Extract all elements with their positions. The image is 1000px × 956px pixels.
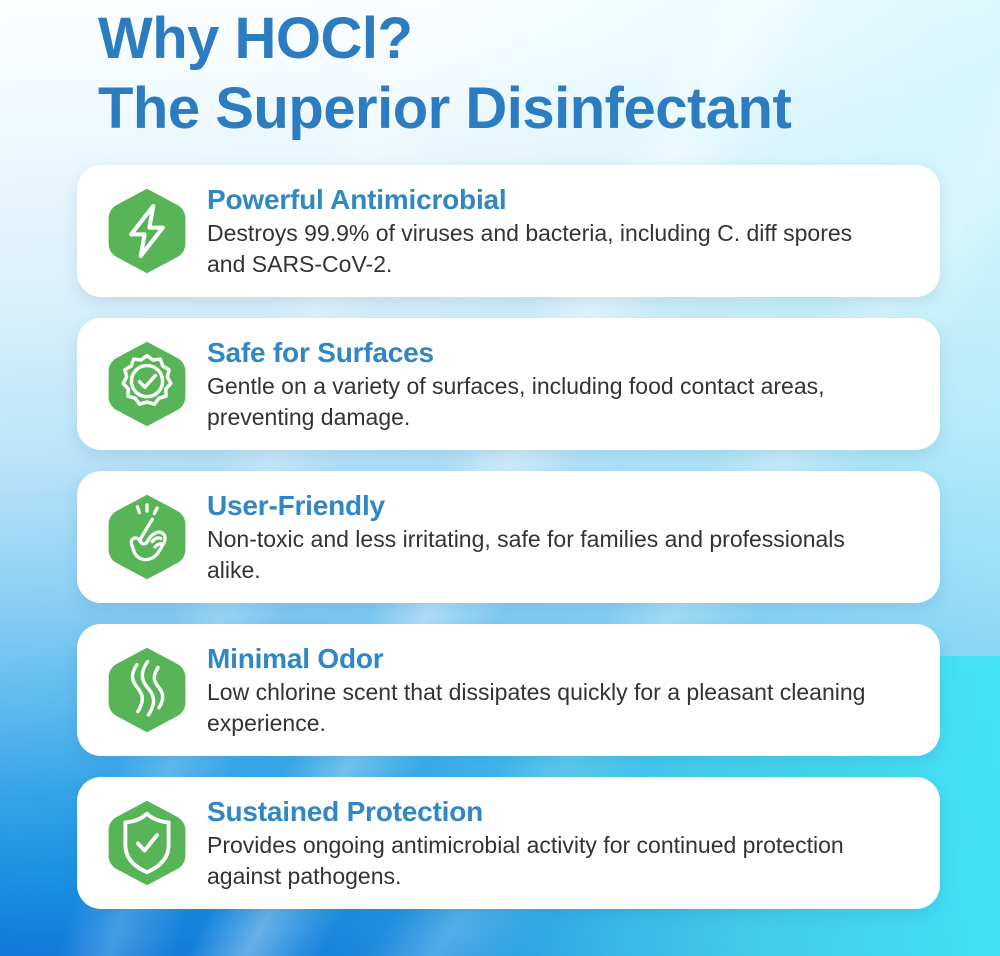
benefit-card-title: Powerful Antimicrobial [207, 183, 887, 217]
benefit-card-title: Safe for Surfaces [207, 336, 887, 370]
benefit-card-description: Low chlorine scent that dissipates quick… [207, 677, 887, 739]
benefit-card-description: Non-toxic and less irritating, safe for … [207, 524, 887, 586]
benefit-card-safe-for-surfaces: Safe for Surfaces Gentle on a variety of… [77, 318, 940, 450]
benefit-card-description: Gentle on a variety of surfaces, includi… [207, 371, 887, 433]
page-title-line-2: The Superior Disinfectant [98, 74, 1000, 144]
benefit-card-text: Safe for Surfaces Gentle on a variety of… [195, 336, 905, 433]
benefit-card-text: Sustained Protection Provides ongoing an… [195, 795, 905, 892]
benefit-card-sustained-protection: Sustained Protection Provides ongoing an… [77, 777, 940, 909]
benefit-card-minimal-odor: Minimal Odor Low chlorine scent that dis… [77, 624, 940, 756]
tapping-hand-icon [99, 489, 195, 585]
scent-waves-icon [99, 642, 195, 738]
benefit-card-user-friendly: User-Friendly Non-toxic and less irritat… [77, 471, 940, 603]
benefit-card-title: Minimal Odor [207, 642, 887, 676]
benefit-card-text: Powerful Antimicrobial Destroys 99.9% of… [195, 183, 905, 280]
benefit-card-title: User-Friendly [207, 489, 887, 523]
infographic-canvas: Why HOCl? The Superior Disinfectant Powe… [0, 0, 1000, 956]
lightning-bolt-icon [99, 183, 195, 279]
benefit-card-description: Destroys 99.9% of viruses and bacteria, … [207, 218, 887, 280]
benefit-card-description: Provides ongoing antimicrobial activity … [207, 830, 887, 892]
benefit-card-powerful-antimicrobial: Powerful Antimicrobial Destroys 99.9% of… [77, 165, 940, 297]
page-title-line-1: Why HOCl? [98, 4, 1000, 74]
benefit-card-title: Sustained Protection [207, 795, 887, 829]
shield-check-icon [99, 795, 195, 891]
benefit-card-text: Minimal Odor Low chlorine scent that dis… [195, 642, 905, 739]
benefit-card-list: Powerful Antimicrobial Destroys 99.9% of… [0, 165, 1000, 909]
page-title: Why HOCl? The Superior Disinfectant [0, 0, 1000, 144]
benefit-card-text: User-Friendly Non-toxic and less irritat… [195, 489, 905, 586]
badge-check-icon [99, 336, 195, 432]
